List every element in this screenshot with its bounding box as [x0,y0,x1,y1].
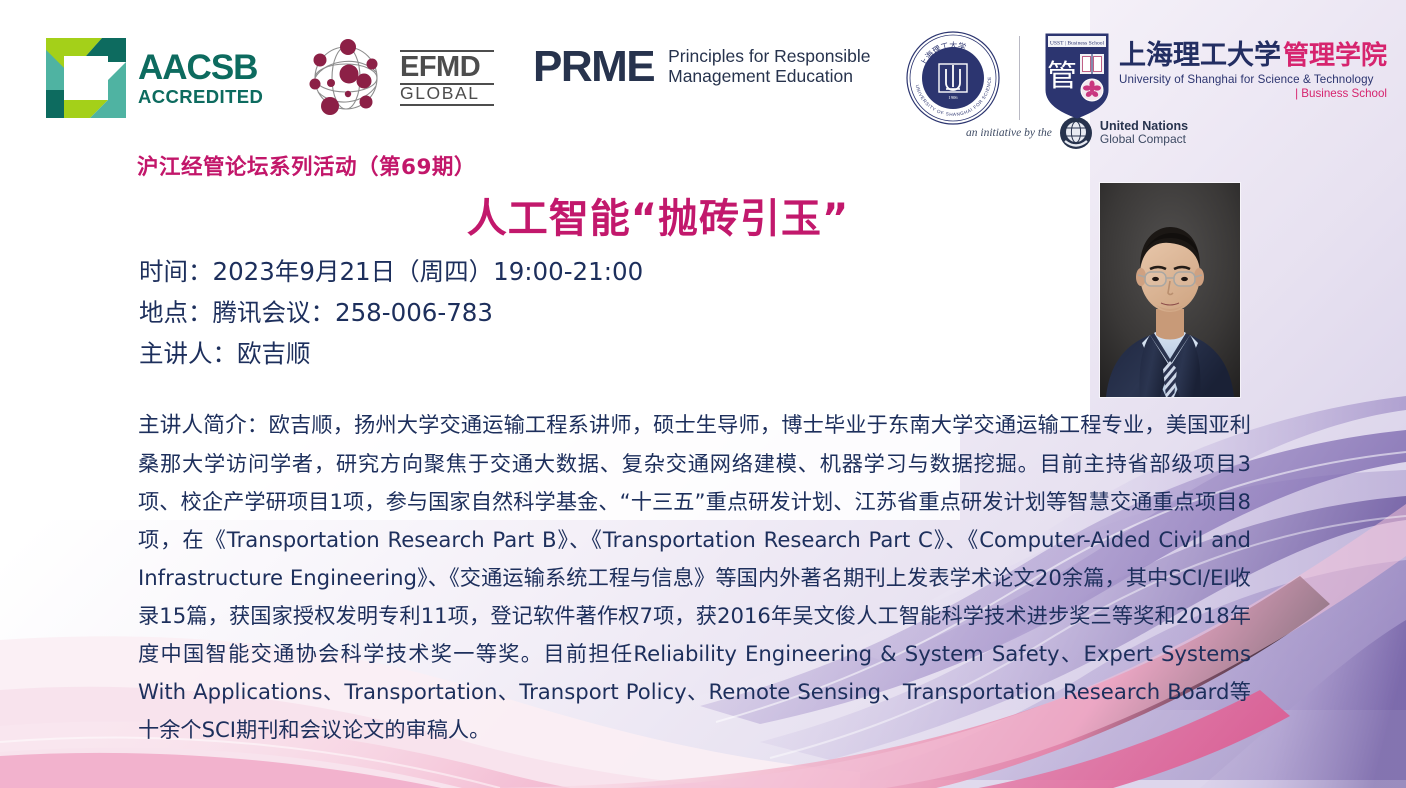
series-label: 沪江经管论坛系列活动（第69期） [137,150,476,181]
event-poster: AACSB ACCREDITED [0,0,1406,788]
speaker-photo [1100,183,1240,397]
shield-glyph: 管 [1047,59,1077,94]
logo-divider [1019,36,1020,120]
efmd-global-label: GLOBAL [400,85,494,105]
prme-initiative-text: an initiative by the [966,127,1052,139]
event-location: 地点：腾讯会议：258-006-783 [139,292,919,333]
bio-body: 欧吉顺，扬州大学交通运输工程系讲师，硕士生导师，博士毕业于东南大学交通运输工程专… [138,412,1251,742]
event-time: 时间：2023年9月21日（周四）19:00-21:00 [139,251,919,292]
un-line1: United Nations [1100,119,1188,133]
un-globe-icon [1059,116,1093,150]
bs-cn-school: 管理学院 [1283,43,1387,69]
prme-wordmark: PRME [533,46,654,88]
event-speaker: 主讲人：欧吉顺 [139,333,919,374]
accreditation-logo-band: AACSB ACCREDITED [0,0,1406,150]
prme-logo: PRME Principles for Responsible Manageme… [533,46,870,88]
usst-seal: 1906 上海理工大学 UNIVERSITY OF SHANGHAI FOR S… [906,31,1000,125]
aacsb-mark-icon [46,38,126,118]
prme-tagline-line2: Management Education [668,66,870,86]
efmd-global-logo: EFMD GLOBAL [302,34,494,122]
un-line2: Global Compact [1100,133,1188,146]
efmd-wordmark: EFMD [400,52,494,83]
bs-en-university: University of Shanghai for Science & Tec… [1119,73,1387,86]
seal-year: 1906 [948,95,958,100]
prme-tagline-line1: Principles for Responsible [668,46,870,66]
aacsb-accredited-logo: AACSB ACCREDITED [46,38,263,118]
bs-cn-university: 上海理工大学 [1119,42,1281,69]
event-details: 时间：2023年9月21日（周四）19:00-21:00 地点：腾讯会议：258… [139,251,919,374]
bio-label: 主讲人简介： [138,413,269,438]
efmd-network-icon [302,34,390,122]
aacsb-wordmark: AACSB [138,50,263,85]
speaker-bio: 主讲人简介：欧吉顺，扬州大学交通运输工程系讲师，硕士生导师，博士毕业于东南大学交… [138,406,1251,749]
business-school-shield-icon: USST | Business School 管 [1044,32,1110,120]
shield-label: USST | Business School [1050,40,1105,46]
bs-en-school: | Business School [1119,87,1387,100]
aacsb-accredited-label: ACCREDITED [138,88,263,107]
usst-business-school-logo: USST | Business School 管 [1044,32,1387,120]
